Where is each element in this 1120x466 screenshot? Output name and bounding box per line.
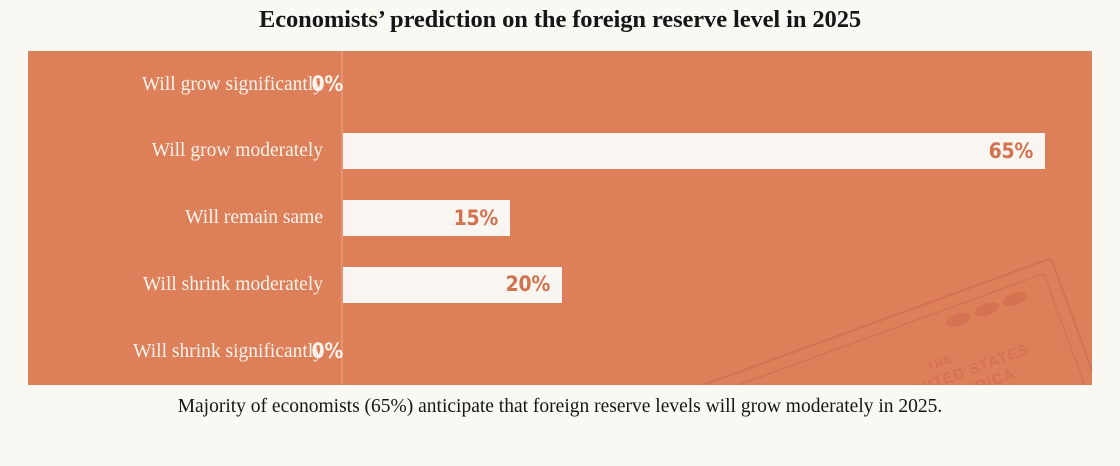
bar-track: 65% xyxy=(343,122,1092,180)
bar-category-label: Will shrink moderately xyxy=(28,275,333,295)
bar[interactable]: 65% xyxy=(343,133,1045,169)
table-row: Will grow moderately65% xyxy=(28,122,1092,180)
chart-page: Economists’ prediction on the foreign re… xyxy=(0,0,1120,466)
bar[interactable]: 15% xyxy=(343,200,510,236)
bar-value-label: 20% xyxy=(506,274,562,295)
bar-category-label: Will grow moderately xyxy=(28,141,333,161)
table-row: Will remain same15% xyxy=(28,189,1092,247)
table-row: Will shrink significantly0% xyxy=(28,323,1092,381)
bar-category-label: Will grow significantly xyxy=(28,75,333,95)
bar-track: 15% xyxy=(343,189,1092,247)
page-title: Economists’ prediction on the foreign re… xyxy=(0,6,1120,34)
chart-panel: Will grow significantly0%Will grow moder… xyxy=(28,51,1092,385)
bar-track: 20% xyxy=(343,256,1092,314)
bar-rows: Will grow significantly0%Will grow moder… xyxy=(28,51,1092,385)
bar[interactable]: 20% xyxy=(343,267,562,303)
table-row: Will shrink moderately20% xyxy=(28,256,1092,314)
bar-value-label: 0% xyxy=(309,341,343,362)
bar-value-label: 0% xyxy=(309,74,343,95)
chart-caption: Majority of economists (65%) anticipate … xyxy=(0,396,1120,418)
table-row: Will grow significantly0% xyxy=(28,55,1092,113)
bar-value-label: 15% xyxy=(454,208,510,229)
bar-track: 0% xyxy=(343,55,1092,113)
bar-track: 0% xyxy=(343,323,1092,381)
bar-value-label: 65% xyxy=(989,141,1045,162)
bar-category-label: Will remain same xyxy=(28,208,333,228)
bar-category-label: Will shrink significantly xyxy=(28,342,333,362)
